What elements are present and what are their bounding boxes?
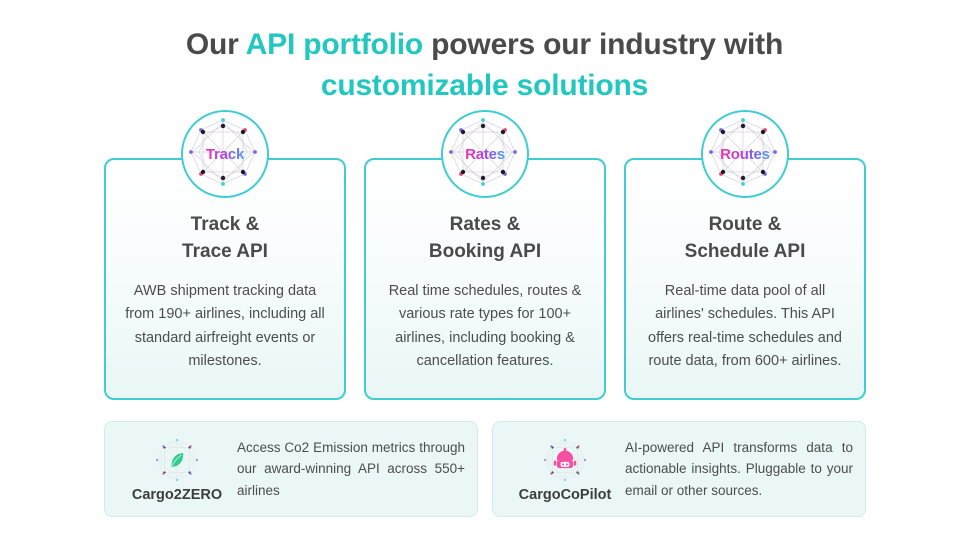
card-description: Real time schedules, routes & various ra… (380, 280, 590, 374)
badge-label: Rates (465, 146, 505, 163)
panel-product-name: CargoCoPilot (519, 487, 612, 503)
product-panel-cargocopilot[interactable]: CargoCoPilot AI-powered API transforms d… (492, 421, 866, 517)
panel-description: AI-powered API transforms data to action… (621, 437, 853, 501)
api-cards-row: Track Track & Trace API AWB shipment tra… (104, 158, 866, 400)
heading-line1-after: powers our industry with (423, 28, 783, 61)
card-description: AWB shipment tracking data from 190+ air… (120, 280, 330, 374)
heading-accent-api-portfolio: API portfolio (246, 28, 423, 61)
robot-icon (554, 448, 577, 468)
badge-routes: Routes (701, 110, 789, 198)
card-title: Rates & Booking API (380, 212, 590, 266)
badge-rates: Rates (441, 110, 529, 198)
card-description: Real-time data pool of all airlines' sch… (640, 280, 850, 374)
heading-accent-customizable-solutions: customizable solutions (321, 69, 648, 102)
product-panel-cargo2zero[interactable]: Cargo2ZERO Access Co2 Emission metrics t… (104, 421, 478, 517)
panel-description: Access Co2 Emission metrics through our … (233, 437, 465, 501)
api-card-track-trace[interactable]: Track Track & Trace API AWB shipment tra… (104, 158, 346, 400)
panel-product-name: Cargo2ZERO (132, 487, 222, 503)
api-portfolio-section: Our API portfolio powers our industry wi… (0, 0, 969, 543)
panel-icon-column: Cargo2ZERO (121, 435, 233, 503)
badge-label: Routes (720, 146, 770, 163)
card-title: Track & Trace API (120, 212, 330, 266)
card-title: Route & Schedule API (640, 212, 850, 266)
secondary-products-row: Cargo2ZERO Access Co2 Emission metrics t… (104, 421, 866, 517)
panel-icon-column: CargoCoPilot (509, 435, 621, 503)
network-pattern-icon (539, 435, 591, 485)
api-card-route-schedule[interactable]: Routes Route & Schedule API Real-time da… (624, 158, 866, 400)
network-pattern-icon (151, 435, 203, 485)
panel-icon-wrapper (151, 435, 203, 485)
page-title: Our API portfolio powers our industry wi… (0, 0, 969, 107)
panel-icon-wrapper (539, 435, 591, 485)
api-card-rates-booking[interactable]: Rates Rates & Booking API Real time sche… (364, 158, 606, 400)
leaf-icon (171, 453, 183, 467)
badge-label: Track (206, 146, 244, 163)
heading-line1-before: Our (186, 28, 246, 61)
badge-track: Track (181, 110, 269, 198)
